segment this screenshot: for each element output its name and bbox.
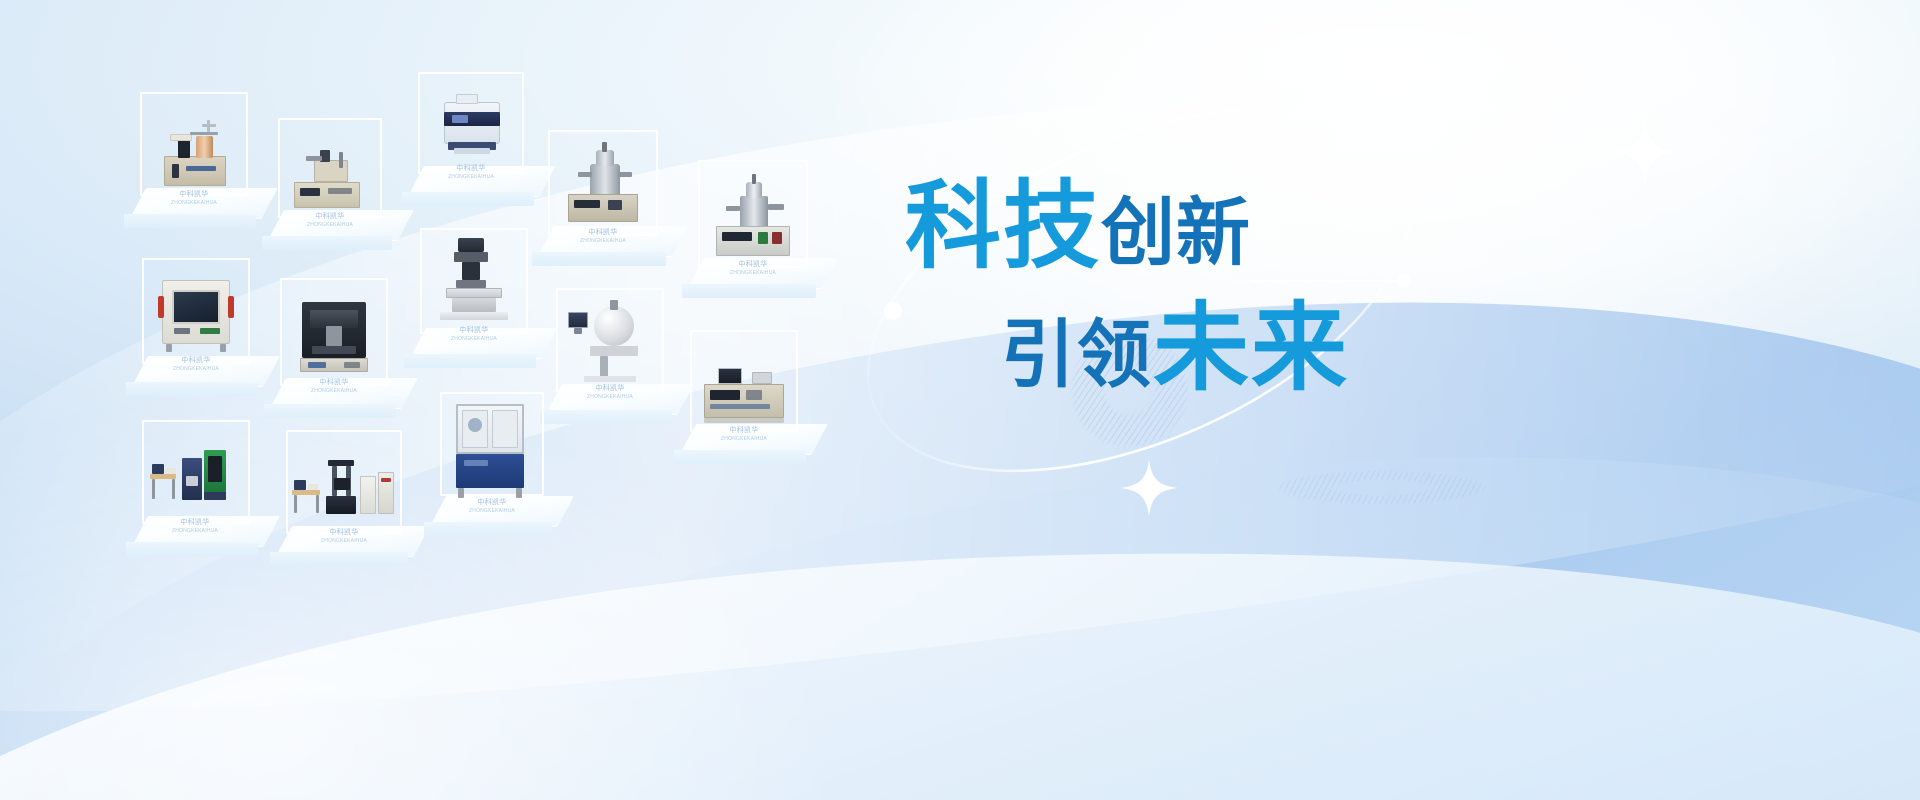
product-image: 中科凯华ZHONGKEKAIHUA xyxy=(706,168,800,262)
hero-banner: 中科凯华ZHONGKEKAIHUA 中科凯华ZHONGKEKAIHUA xyxy=(0,0,1920,800)
product-image: 中科凯华ZHONGKEKAIHUA xyxy=(556,138,650,230)
product-watermark: 中科凯华ZHONGKEKAIHUA xyxy=(172,519,218,534)
product-watermark: 中科凯华ZHONGKEKAIHUA xyxy=(311,379,357,394)
product-image: 中科凯华ZHONGKEKAIHUA xyxy=(150,266,242,358)
headline-line1-primary: 科技 xyxy=(905,178,1101,274)
headline-line2-primary: 引领 xyxy=(1001,318,1153,396)
product-watermark: 中科凯华ZHONGKEKAIHUA xyxy=(448,165,494,180)
product-image: 中科凯华ZHONGKEKAIHUA xyxy=(564,298,656,386)
headline-line-1: 科技创新 xyxy=(905,178,1465,274)
headline-block: 科技创新 引领未来 xyxy=(905,178,1465,396)
product-watermark: 中科凯华ZHONGKEKAIHUA xyxy=(580,229,626,244)
product-image: 中科凯华ZHONGKEKAIHUA xyxy=(284,130,376,214)
product-image: 中科凯华ZHONGKEKAIHUA xyxy=(292,446,396,530)
product-watermark: 中科凯华ZHONGKEKAIHUA xyxy=(173,357,219,372)
product-image: 中科凯华ZHONGKEKAIHUA xyxy=(698,344,790,428)
product-watermark: 中科凯华ZHONGKEKAIHUA xyxy=(587,385,633,400)
headline-line1-secondary: 创新 xyxy=(1101,196,1251,274)
orbit-node-left xyxy=(884,302,902,320)
product-watermark: 中科凯华ZHONGKEKAIHUA xyxy=(321,529,367,544)
product-watermark: 中科凯华ZHONGKEKAIHUA xyxy=(451,327,497,342)
product-image: 中科凯华ZHONGKEKAIHUA xyxy=(428,234,520,328)
product-image: 中科凯华ZHONGKEKAIHUA xyxy=(288,286,380,380)
sparkle-star-bottom xyxy=(1120,459,1178,517)
product-watermark: 中科凯华ZHONGKEKAIHUA xyxy=(307,213,353,228)
sparkle-star-top-right xyxy=(1613,120,1677,184)
headline-line2-secondary: 未来 xyxy=(1153,300,1349,396)
product-image: 中科凯华ZHONGKEKAIHUA xyxy=(148,436,242,520)
product-image: 中科凯华ZHONGKEKAIHUA xyxy=(426,82,516,166)
product-image: 中科凯华ZHONGKEKAIHUA xyxy=(446,398,538,500)
product-watermark: 中科凯华ZHONGKEKAIHUA xyxy=(469,499,515,514)
product-watermark: 中科凯华ZHONGKEKAIHUA xyxy=(730,261,776,276)
product-watermark: 中科凯华ZHONGKEKAIHUA xyxy=(721,427,767,442)
headline-line-2: 引领未来 xyxy=(905,300,1465,396)
product-watermark: 中科凯华ZHONGKEKAIHUA xyxy=(171,191,217,206)
product-image: 中科凯华ZHONGKEKAIHUA xyxy=(148,106,240,192)
